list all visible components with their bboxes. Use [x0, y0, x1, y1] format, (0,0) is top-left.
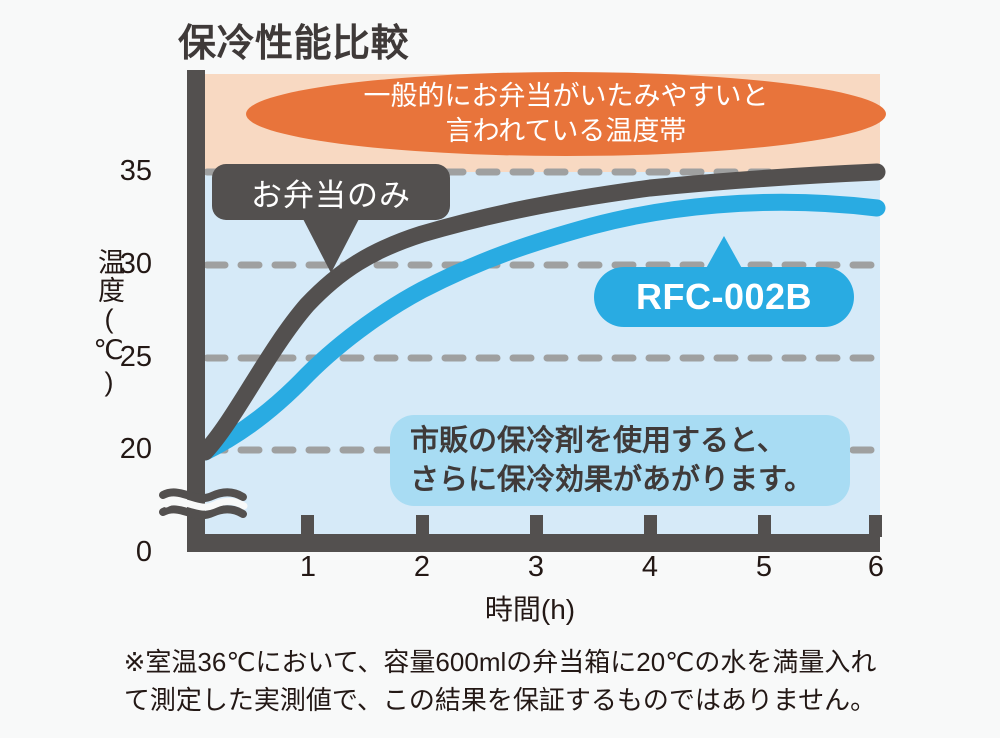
danger-band-label-line1: 一般的にお弁当がいたみやすいと — [364, 79, 769, 114]
x-tick-1: 1 — [286, 551, 330, 584]
footnote-line1: ※室温36℃において、容量600mlの弁当箱に20℃の水を満量入れ — [0, 644, 1000, 682]
chart-root: 保冷性能比較 — [0, 0, 1000, 738]
y-tick-20: 20 — [88, 433, 152, 466]
x-tick-4: 4 — [628, 551, 672, 584]
info-box: 市販の保冷剤を使用すると、 さらに保冷効果があがります。 — [390, 415, 850, 506]
danger-band-label: 一般的にお弁当がいたみやすいと 言われている温度帯 — [246, 76, 886, 152]
series-label-rfc-002b: RFC-002B — [594, 267, 854, 327]
y-tick-0: 0 — [88, 536, 152, 569]
danger-band-label-line2: 言われている温度帯 — [446, 114, 687, 149]
info-box-line1: 市販の保冷剤を使用すると、 — [410, 422, 786, 460]
x-tick-2: 2 — [400, 551, 444, 584]
x-tick-6: 6 — [854, 551, 898, 584]
y-axis — [187, 70, 205, 542]
x-axis-title: 時間(h) — [0, 588, 1000, 628]
info-box-line2: さらに保冷効果があがります。 — [410, 461, 813, 499]
y-axis-title: 温度(℃) — [88, 248, 122, 398]
x-tick-3: 3 — [514, 551, 558, 584]
x-tick-5: 5 — [742, 551, 786, 584]
footnote-line2: て測定した実測値で、この結果を保証するものではありません。 — [0, 682, 1000, 720]
axis-break-icon — [163, 492, 244, 515]
series-label-obento-only: お弁当のみ — [212, 164, 450, 220]
y-tick-35: 35 — [88, 155, 152, 188]
footnote: ※室温36℃において、容量600mlの弁当箱に20℃の水を満量入れ て測定した実… — [0, 644, 1000, 719]
